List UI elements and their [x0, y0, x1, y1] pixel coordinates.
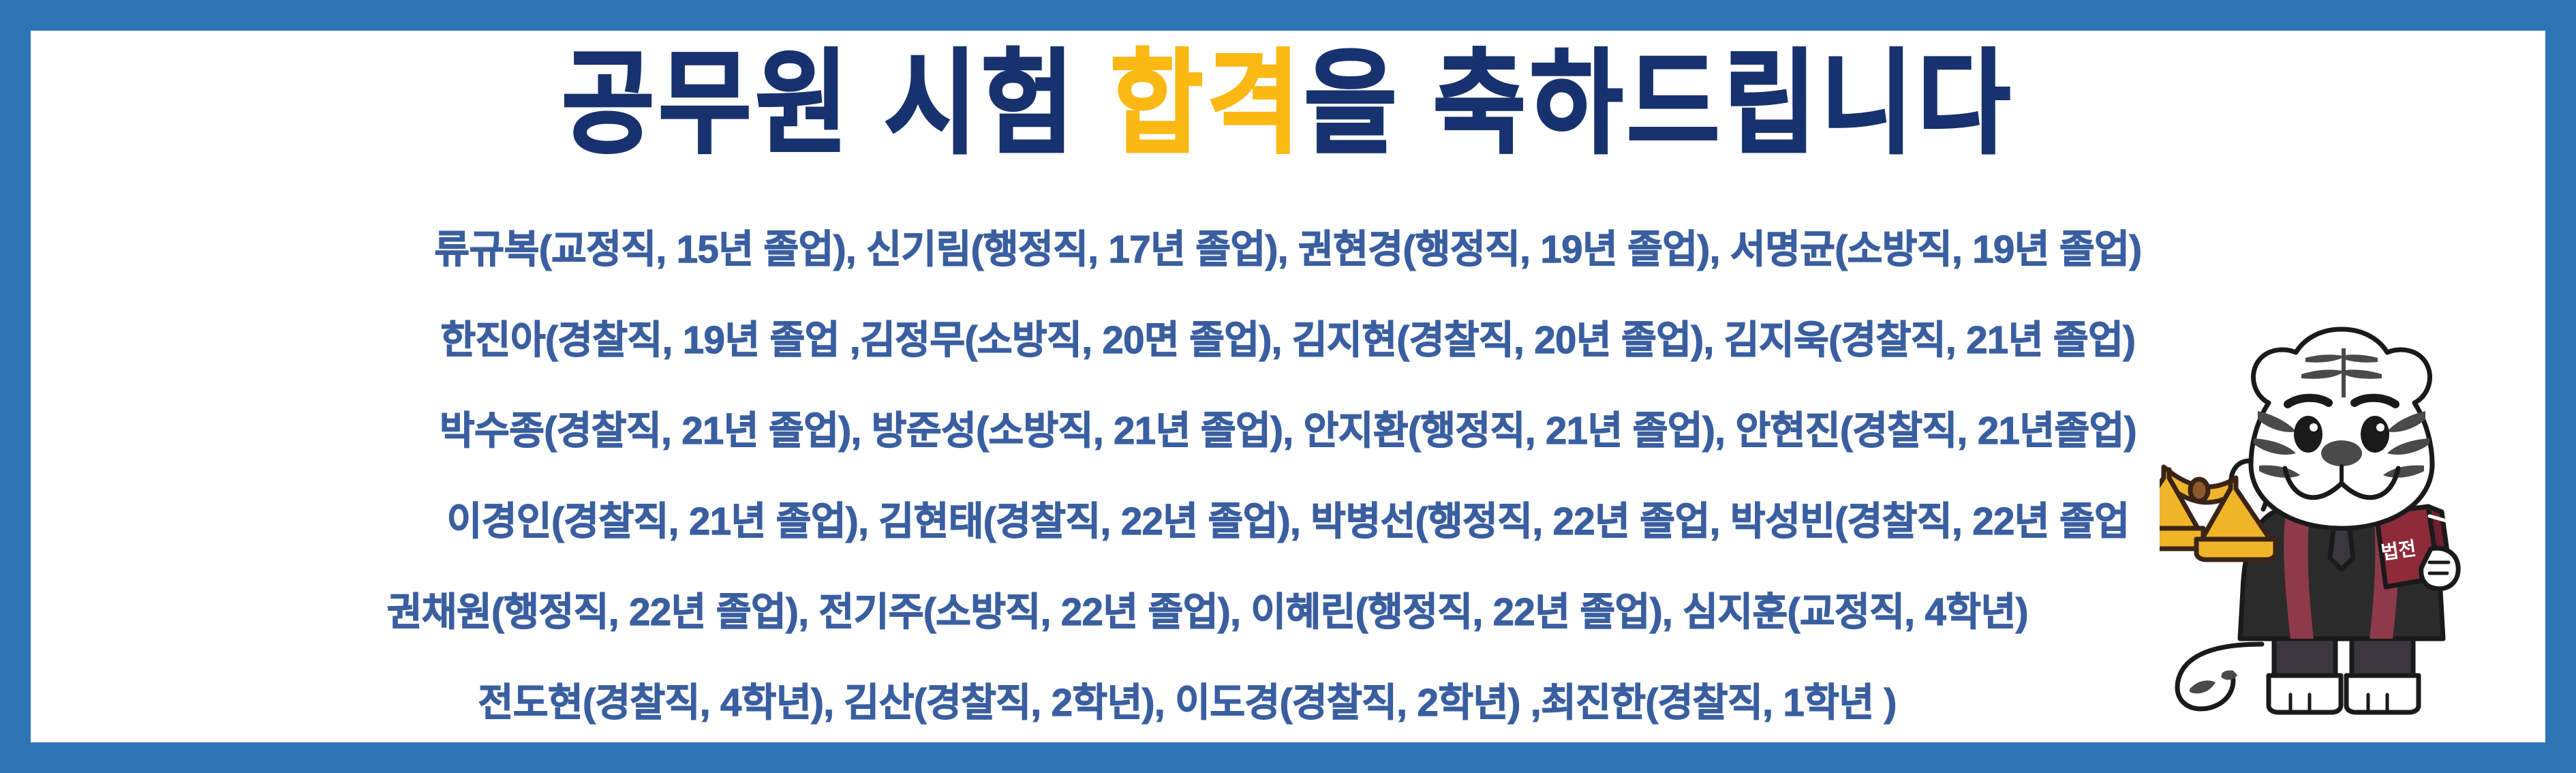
name-line: 전도현(경찰직, 4학년), 김산(경찰직, 2학년), 이도경(경찰직, 2학…: [76, 658, 2500, 742]
name-line: 이경인(경찰직, 21년 졸업), 김현태(경찰직, 22년 졸업), 박병선(…: [76, 476, 2500, 567]
name-line: 한진아(경찰직, 19년 졸업 ,김정무(소방직, 20면 졸업), 김지현(경…: [76, 295, 2500, 386]
congratulations-banner: 공무원 시험 합격을 축하드립니다 류규복(교정직, 15년 졸업), 신기림(…: [0, 0, 2576, 773]
page-title: 공무원 시험 합격을 축하드립니다: [31, 33, 2545, 175]
name-line: 권채원(행정직, 22년 졸업), 전기주(소방직, 22년 졸업), 이혜린(…: [76, 567, 2500, 658]
name-line: 류규복(교정직, 15년 졸업), 신기림(행정직, 17년 졸업), 권현경(…: [76, 204, 2500, 295]
title-highlight-pass: 합격: [1110, 41, 1304, 167]
name-line: 박수종(경찰직, 21년 졸업), 방준성(소방직, 21년 졸업), 안지환(…: [76, 386, 2500, 476]
banner-inner-panel: 공무원 시험 합격을 축하드립니다 류규복(교정직, 15년 졸업), 신기림(…: [31, 31, 2545, 742]
title-part-1: 공무원 시험: [562, 41, 1110, 167]
passer-name-list: 류규복(교정직, 15년 졸업), 신기림(행정직, 17년 졸업), 권현경(…: [31, 204, 2545, 742]
title-part-2: 을 축하드립니다: [1304, 41, 2014, 167]
